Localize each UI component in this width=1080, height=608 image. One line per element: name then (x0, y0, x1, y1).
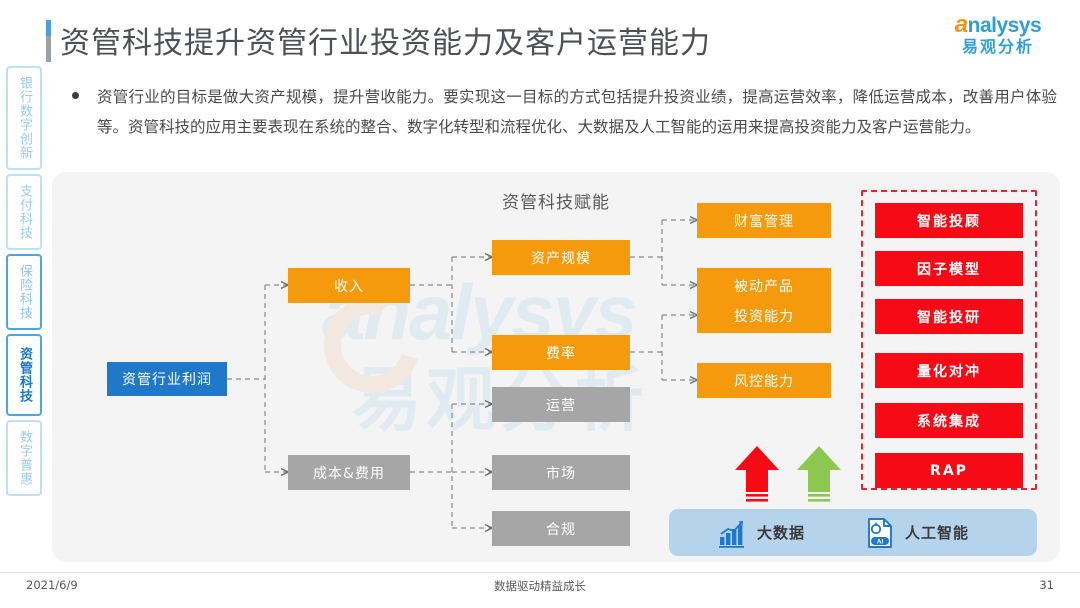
node-label: 量化对冲 (917, 361, 981, 381)
node-label: 市场 (546, 463, 576, 483)
node-cost-and-expense[interactable]: 成本&费用 (288, 455, 410, 490)
node-label: 财富管理 (734, 211, 794, 231)
tech-item-big-data[interactable]: 大数据 (717, 518, 805, 548)
ai-document-icon: AI (865, 517, 895, 549)
node-label: 因子模型 (917, 259, 981, 279)
sidebar-item-label: 银行数字创新 (16, 76, 32, 160)
node-label: 成本&费用 (313, 463, 385, 483)
node-market[interactable]: 市场 (492, 455, 630, 490)
sidebar-item-label: 资管科技 (16, 347, 32, 403)
node-label: 运营 (546, 395, 576, 415)
node-revenue[interactable]: 收入 (288, 268, 410, 303)
footer-tagline: 数据驱动精益成长 (0, 578, 1080, 594)
node-factor-model[interactable]: 因子模型 (875, 251, 1023, 286)
node-label: 合规 (546, 519, 576, 539)
tech-enablers-bar: 大数据 AI 人工智能 (669, 509, 1037, 556)
node-asset-mgmt-profit[interactable]: 资管行业利润 (107, 362, 227, 396)
node-asset-scale[interactable]: 资产规模 (492, 240, 630, 275)
sidebar-item-payment-tech[interactable]: 支付科技 (6, 174, 42, 250)
green-up-arrow (794, 444, 844, 506)
title-accent-bar (46, 20, 51, 62)
node-smart-advisory[interactable]: 智能投顾 (875, 203, 1023, 238)
sidebar-item-asset-mgmt-tech[interactable]: 资管科技 (6, 334, 42, 416)
node-label: 风控能力 (734, 371, 794, 391)
logo-main-text: nalysys (968, 14, 1042, 37)
sidebar-item-bank-digital-innovation[interactable]: 银行数字创新 (6, 66, 42, 170)
bar-chart-icon (717, 518, 747, 548)
analysys-logo: analysys 易观分析 (932, 14, 1064, 57)
node-fee-rate[interactable]: 费率 (492, 335, 630, 370)
node-label: 收入 (334, 276, 364, 296)
slide-page: 资管科技提升资管行业投资能力及客户运营能力 analysys 易观分析 资管行业… (0, 0, 1080, 608)
tech-item-label: 大数据 (757, 522, 805, 543)
sidebar-item-digital-inclusive-finance[interactable]: 数字普惠 (6, 420, 42, 496)
sidebar-item-label: 支付科技 (16, 184, 32, 240)
sidebar-item-label: 保险科技 (16, 264, 32, 320)
node-quant-hedging[interactable]: 量化对冲 (875, 353, 1023, 388)
node-label: 智能投研 (917, 307, 981, 327)
red-up-arrow (732, 444, 782, 506)
node-label: 被动产品 (734, 276, 794, 296)
footer-page-number: 31 (1039, 578, 1054, 592)
node-label: RAP (930, 463, 968, 479)
node-operations[interactable]: 运营 (492, 387, 630, 422)
sidebar-item-insurance-tech[interactable]: 保险科技 (6, 254, 42, 330)
footer-divider (0, 572, 1080, 573)
node-label: 智能投顾 (917, 211, 981, 231)
tech-item-label: 人工智能 (905, 522, 969, 543)
sidebar-tabs: 银行数字创新 支付科技 保险科技 资管科技 数字普惠 (6, 66, 42, 500)
node-system-integration[interactable]: 系统集成 (875, 403, 1023, 438)
node-investment-capability[interactable]: 投资能力 (697, 298, 831, 333)
logo-wordmark: analysys (932, 14, 1064, 37)
svg-text:AI: AI (877, 538, 884, 545)
node-label: 费率 (546, 343, 576, 363)
sidebar-item-label: 数字普惠 (16, 430, 32, 486)
node-label: 系统集成 (917, 411, 981, 431)
tech-item-ai[interactable]: AI 人工智能 (865, 517, 969, 549)
bullet-dot-icon (72, 92, 79, 99)
node-smart-research[interactable]: 智能投研 (875, 299, 1023, 334)
page-title: 资管科技提升资管行业投资能力及客户运营能力 (60, 18, 711, 62)
body-paragraph: 资管行业的目标是做大资产规模，提升营收能力。要实现这一目标的方式包括提升投资业绩… (97, 82, 1057, 142)
node-label: 投资能力 (734, 306, 794, 326)
logo-chinese-text: 易观分析 (932, 37, 1064, 57)
node-risk-control-capability[interactable]: 风控能力 (697, 363, 831, 398)
node-wealth-management[interactable]: 财富管理 (697, 203, 831, 238)
diagram-panel: 资管科技赋能 analysys 易观分析 (52, 172, 1060, 562)
node-compliance[interactable]: 合规 (492, 511, 630, 546)
node-rap[interactable]: RAP (875, 453, 1023, 488)
logo-a-glyph: a (955, 11, 968, 38)
node-label: 资产规模 (531, 248, 591, 268)
node-label: 资管行业利润 (122, 369, 212, 389)
